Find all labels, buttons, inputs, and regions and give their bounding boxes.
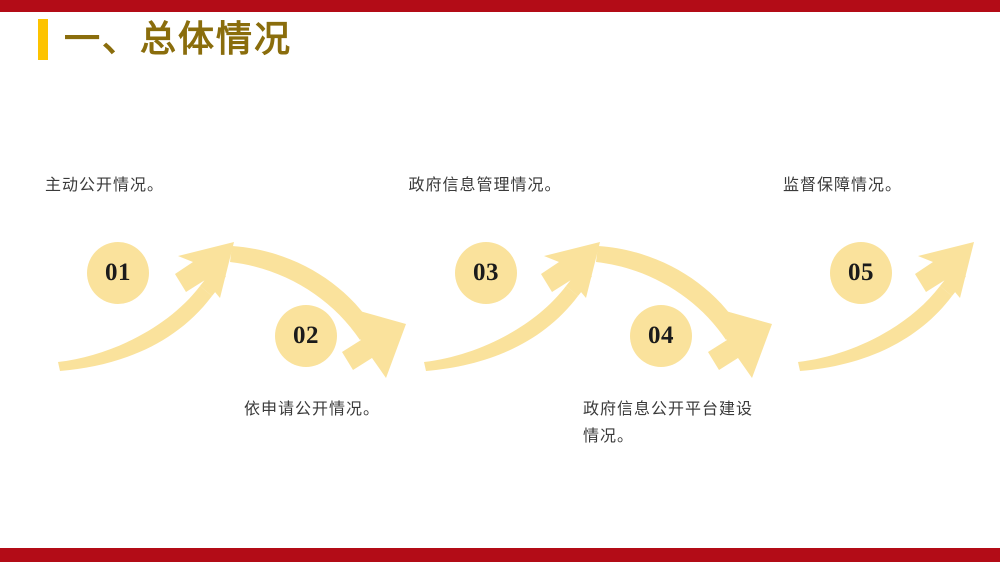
step-circle-02[interactable]: 02 — [275, 305, 337, 367]
slide-root: 一、总体情况 01 0 — [0, 0, 1000, 562]
step-label-02: 依申请公开情况。 — [228, 396, 396, 423]
step-circle-01[interactable]: 01 — [87, 242, 149, 304]
top-red-band — [0, 0, 1000, 12]
step-label-01: 主动公开情况。 — [45, 172, 265, 199]
step-label-04: 政府信息公开平台建设情况。 — [583, 396, 763, 450]
step-circle-04[interactable]: 04 — [630, 305, 692, 367]
arrow-down-2 — [596, 246, 772, 378]
step-circle-03[interactable]: 03 — [455, 242, 517, 304]
bottom-red-band — [0, 548, 1000, 562]
title-accent-bar — [38, 19, 48, 60]
page-title-text: 一、总体情况 — [64, 18, 292, 60]
page-title: 一、总体情况 — [38, 18, 292, 60]
step-label-05: 监督保障情况。 — [783, 172, 1000, 199]
step-label-03: 政府信息管理情况。 — [395, 172, 575, 199]
step-circle-05[interactable]: 05 — [830, 242, 892, 304]
